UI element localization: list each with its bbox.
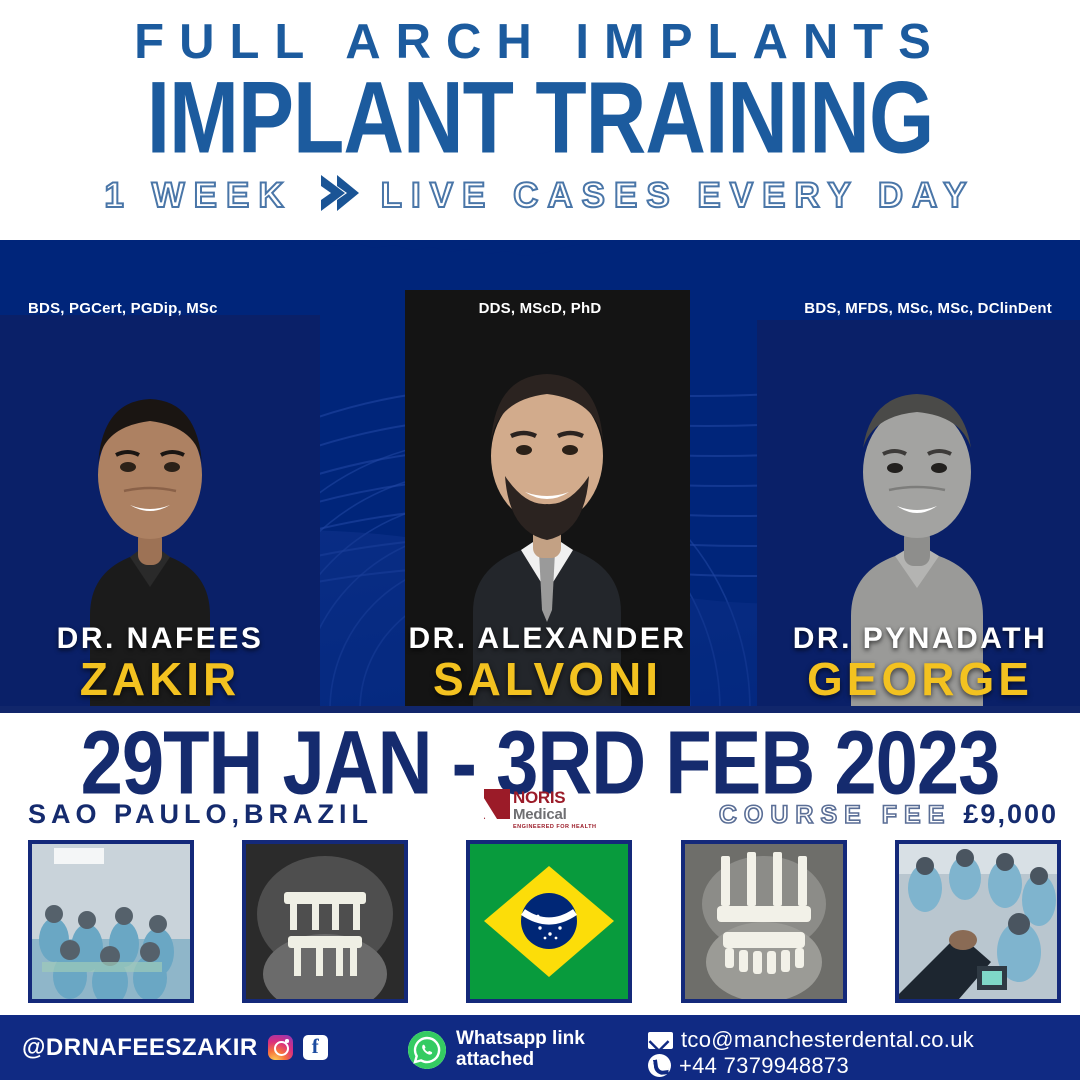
whatsapp-icon[interactable] (408, 1031, 446, 1069)
poster-root: FULL ARCH IMPLANTS IMPLANT TRAINING 1 WE… (0, 0, 1080, 1080)
live-surgery-photo (895, 840, 1061, 1003)
chevron-right-icon (315, 172, 359, 218)
footer-bar: @DRNAFEESZAKIR f Whatsapp link attached … (0, 1015, 1080, 1080)
brazil-flag-photo (466, 840, 632, 1003)
hands-on-training-photo (28, 840, 194, 1003)
speaker-3-last-name: GEORGE (760, 656, 1080, 702)
speaker-1-name: DR. NAFEES ZAKIR (0, 624, 320, 702)
panoramic-xray-photo (242, 840, 408, 1003)
speaker-1-credentials: BDS, PGCert, PGDip, MSc (0, 300, 369, 317)
whatsapp-line-1: Whatsapp link (456, 1028, 585, 1049)
event-location: SAO PAULO,BRAZIL (28, 801, 373, 828)
email-address: tco@manchesterdental.co.uk (681, 1029, 974, 1051)
facebook-icon[interactable]: f (303, 1035, 328, 1060)
social-handle: @DRNAFEESZAKIR (22, 1036, 258, 1060)
speaker-3-first-name: DR. PYNADATH (760, 624, 1080, 654)
social-handle-group[interactable]: @DRNAFEESZAKIR f (22, 1035, 328, 1060)
page-title: IMPLANT TRAINING (0, 66, 1080, 168)
live-cases-label: LIVE CASES EVERY DAY (381, 178, 976, 213)
speaker-1-first-name: DR. NAFEES (0, 624, 320, 654)
speaker-1-last-name: ZAKIR (0, 656, 320, 702)
subtitle-row: 1 WEEK LIVE CASES EVERY DAY (0, 172, 1080, 218)
contact-group: tco@manchesterdental.co.uk +44 737994887… (648, 1029, 974, 1077)
speaker-3-credentials: BDS, MFDS, MSc, MSc, DClinDent (711, 300, 1080, 317)
speaker-2-name: DR. ALEXANDER SALVONI (380, 624, 715, 702)
noris-mark-icon (484, 789, 510, 819)
noris-name: NORIS (513, 789, 596, 806)
phone-number: +44 7379948873 (679, 1055, 849, 1077)
speakers-band: BDS, PGCert, PGDip, MSc DDS, MScD, PhD B… (0, 240, 1080, 710)
speaker-3-name: DR. PYNADATH GEORGE (760, 624, 1080, 702)
credentials-row: BDS, PGCert, PGDip, MSc DDS, MScD, PhD B… (0, 300, 1080, 317)
email-row[interactable]: tco@manchesterdental.co.uk (648, 1029, 974, 1051)
speaker-2-credentials: DDS, MScD, PhD (369, 300, 710, 317)
gallery-row (0, 840, 1080, 1015)
section-divider (0, 706, 1080, 713)
envelope-icon (648, 1032, 673, 1049)
whatsapp-text: Whatsapp link attached (456, 1029, 585, 1070)
facebook-glyph: f (303, 1034, 328, 1059)
whatsapp-line-2: attached (456, 1049, 534, 1070)
phone-row[interactable]: +44 7379948873 (648, 1054, 974, 1077)
speaker-2-last-name: SALVONI (380, 656, 715, 702)
duration-label: 1 WEEK (104, 178, 292, 213)
course-fee-label: COURSE FEE (719, 803, 952, 828)
course-fee: COURSE FEE £9,000 (719, 801, 1058, 828)
noris-tagline: ENGINEERED FOR HEALTH (513, 825, 596, 831)
header-block: FULL ARCH IMPLANTS IMPLANT TRAINING 1 WE… (0, 0, 1080, 240)
speaker-2-first-name: DR. ALEXANDER (380, 624, 715, 654)
whatsapp-group[interactable]: Whatsapp link attached (408, 1029, 585, 1070)
phone-icon (648, 1054, 671, 1077)
instagram-icon[interactable] (268, 1035, 293, 1060)
noris-logo-icon: NORIS Medical ENGINEERED FOR HEALTH (484, 789, 596, 831)
full-arch-prosthesis-xray-photo (681, 840, 847, 1003)
noris-subname: Medical (513, 807, 596, 822)
course-fee-value: £9,000 (963, 801, 1058, 828)
